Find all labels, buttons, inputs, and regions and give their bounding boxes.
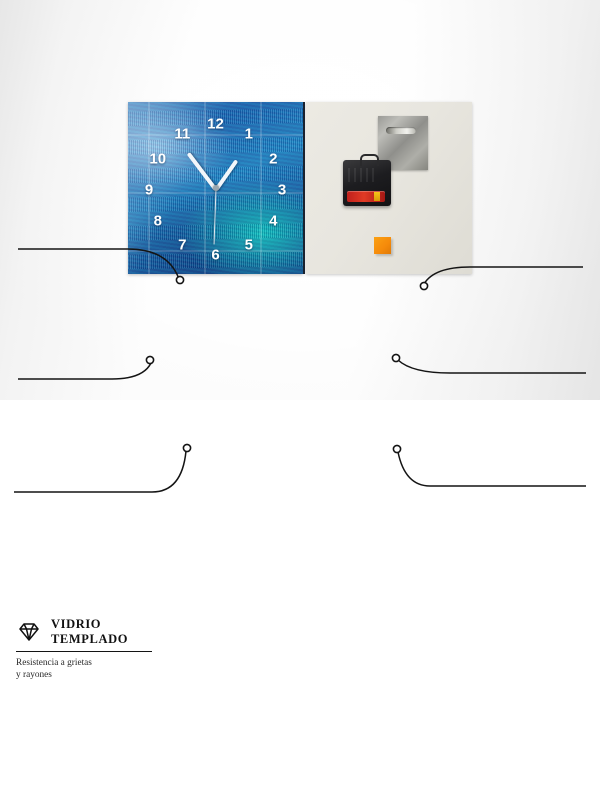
connector-espaciador bbox=[398, 452, 586, 486]
battery bbox=[347, 191, 385, 202]
connector-bordes-pulidos bbox=[14, 451, 186, 492]
clock-numeral-5: 5 bbox=[245, 237, 253, 252]
hotspot-mecanismo bbox=[392, 354, 399, 361]
clock-numeral-9: 9 bbox=[145, 182, 153, 197]
clock-numeral-6: 6 bbox=[211, 248, 219, 263]
callout-rule bbox=[16, 651, 152, 653]
clock-numeral-2: 2 bbox=[269, 151, 277, 166]
hotspot-espaciador bbox=[393, 445, 400, 452]
hotspot-bordes-pulidos bbox=[183, 444, 190, 451]
callout-vidrio-templado[interactable]: VIDRIO TEMPLADO Resistencia a grietas y … bbox=[16, 617, 152, 682]
connector-mecanismo bbox=[398, 360, 586, 373]
mechanism-hook bbox=[360, 154, 379, 166]
callout-title: VIDRIO TEMPLADO bbox=[51, 617, 128, 647]
clock-minute-hand bbox=[186, 152, 217, 191]
clock-second-hand bbox=[213, 188, 216, 244]
clock-numeral-10: 10 bbox=[149, 151, 166, 166]
hotspot-impresion bbox=[146, 356, 153, 363]
clock-front-face: 12 1 2 3 4 5 6 7 8 9 10 11 bbox=[128, 102, 303, 274]
product-image: 12 1 2 3 4 5 6 7 8 9 10 11 bbox=[128, 102, 472, 274]
hanger-slot bbox=[386, 127, 416, 134]
connector-impresion bbox=[18, 363, 151, 379]
callout-desc: Resistencia a grietas y rayones bbox=[16, 657, 152, 682]
mechanism-detail bbox=[348, 168, 378, 182]
hotspot-vidrio-templado bbox=[176, 276, 183, 283]
foam-spacer bbox=[374, 237, 391, 254]
clock-dial: 12 1 2 3 4 5 6 7 8 9 10 11 bbox=[128, 102, 303, 274]
quartz-mechanism bbox=[343, 160, 391, 206]
clock-back-panel bbox=[306, 102, 472, 274]
infographic-canvas: 12 1 2 3 4 5 6 7 8 9 10 11 bbox=[0, 0, 600, 400]
diamond-icon bbox=[16, 621, 42, 643]
hotspot-manejas-metal bbox=[420, 282, 427, 289]
clock-center-cap bbox=[213, 185, 219, 191]
clock-numeral-3: 3 bbox=[278, 182, 286, 197]
clock-numeral-4: 4 bbox=[269, 213, 277, 228]
clock-numeral-1: 1 bbox=[245, 126, 253, 141]
clock-numeral-12: 12 bbox=[207, 117, 224, 132]
clock-numeral-8: 8 bbox=[154, 213, 162, 228]
clock-numeral-11: 11 bbox=[174, 126, 190, 141]
clock-numeral-7: 7 bbox=[178, 237, 186, 252]
